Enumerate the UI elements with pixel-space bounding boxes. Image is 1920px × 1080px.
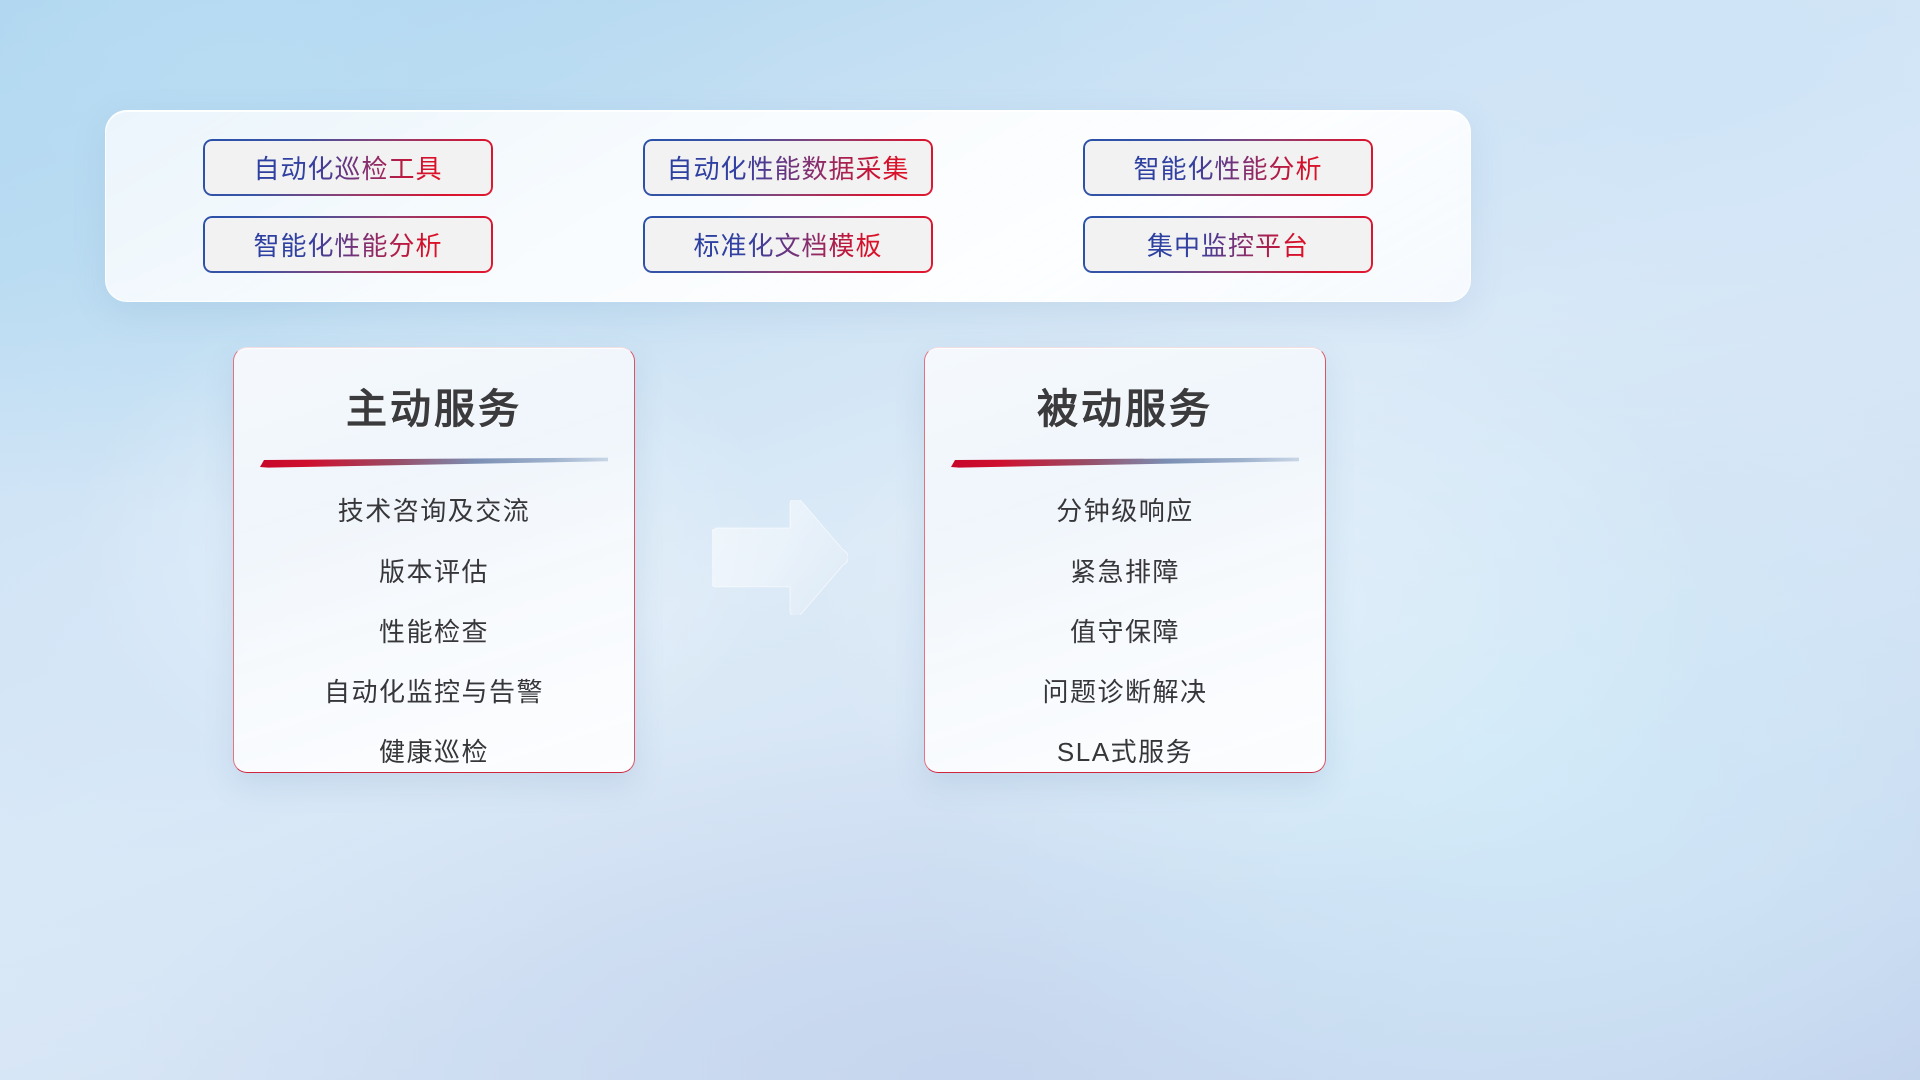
capability-pill-label: 智能化性能分析 [1133, 149, 1322, 186]
list-item: 紧急排障 [951, 559, 1299, 586]
card-title: 被动服务 [951, 384, 1299, 435]
list-item: 分钟级响应 [951, 498, 1299, 525]
list-item: 自动化监控与告警 [260, 679, 608, 706]
right-arrow-icon [712, 500, 848, 615]
capability-pill-label: 集中监控平台 [1147, 226, 1309, 263]
capability-pill[interactable]: 标准化文档模板 [643, 216, 933, 273]
service-list: 技术咨询及交流 版本评估 性能检查 自动化监控与告警 健康巡检 [260, 498, 608, 766]
card-divider [260, 457, 608, 468]
service-list: 分钟级响应 紧急排障 值守保障 问题诊断解决 SLA式服务 [951, 498, 1299, 766]
list-item: 性能检查 [260, 619, 608, 646]
service-card-active: 主动服务 技术咨询及交流 版本评估 性能检查 自动化监控与告警 健康巡检 [233, 347, 635, 773]
capability-pill-label: 标准化文档模板 [693, 226, 882, 263]
capability-pill[interactable]: 自动化巡检工具 [203, 139, 493, 196]
service-card-passive: 被动服务 分钟级响应 紧急排障 值守保障 问题诊断解决 SLA式服务 [924, 347, 1326, 773]
list-item: SLA式服务 [951, 739, 1299, 766]
capability-pill-label: 自动化性能数据采集 [666, 149, 909, 186]
capabilities-banner: 自动化巡检工具 自动化性能数据采集 智能化性能分析 智能化性能分析 标准化文档模… [105, 110, 1471, 302]
slide-canvas: 自动化巡检工具 自动化性能数据采集 智能化性能分析 智能化性能分析 标准化文档模… [0, 0, 1920, 1080]
capability-pill[interactable]: 自动化性能数据采集 [643, 139, 933, 196]
capability-pill[interactable]: 智能化性能分析 [1083, 139, 1373, 196]
card-title: 主动服务 [260, 384, 608, 435]
capability-pill[interactable]: 集中监控平台 [1083, 216, 1373, 273]
list-item: 技术咨询及交流 [260, 498, 608, 525]
capability-pill-label: 自动化巡检工具 [253, 149, 442, 186]
card-divider [951, 457, 1299, 468]
capability-pill[interactable]: 智能化性能分析 [203, 216, 493, 273]
list-item: 问题诊断解决 [951, 679, 1299, 706]
list-item: 值守保障 [951, 619, 1299, 646]
capability-pill-label: 智能化性能分析 [253, 226, 442, 263]
list-item: 版本评估 [260, 559, 608, 586]
list-item: 健康巡检 [260, 739, 608, 766]
